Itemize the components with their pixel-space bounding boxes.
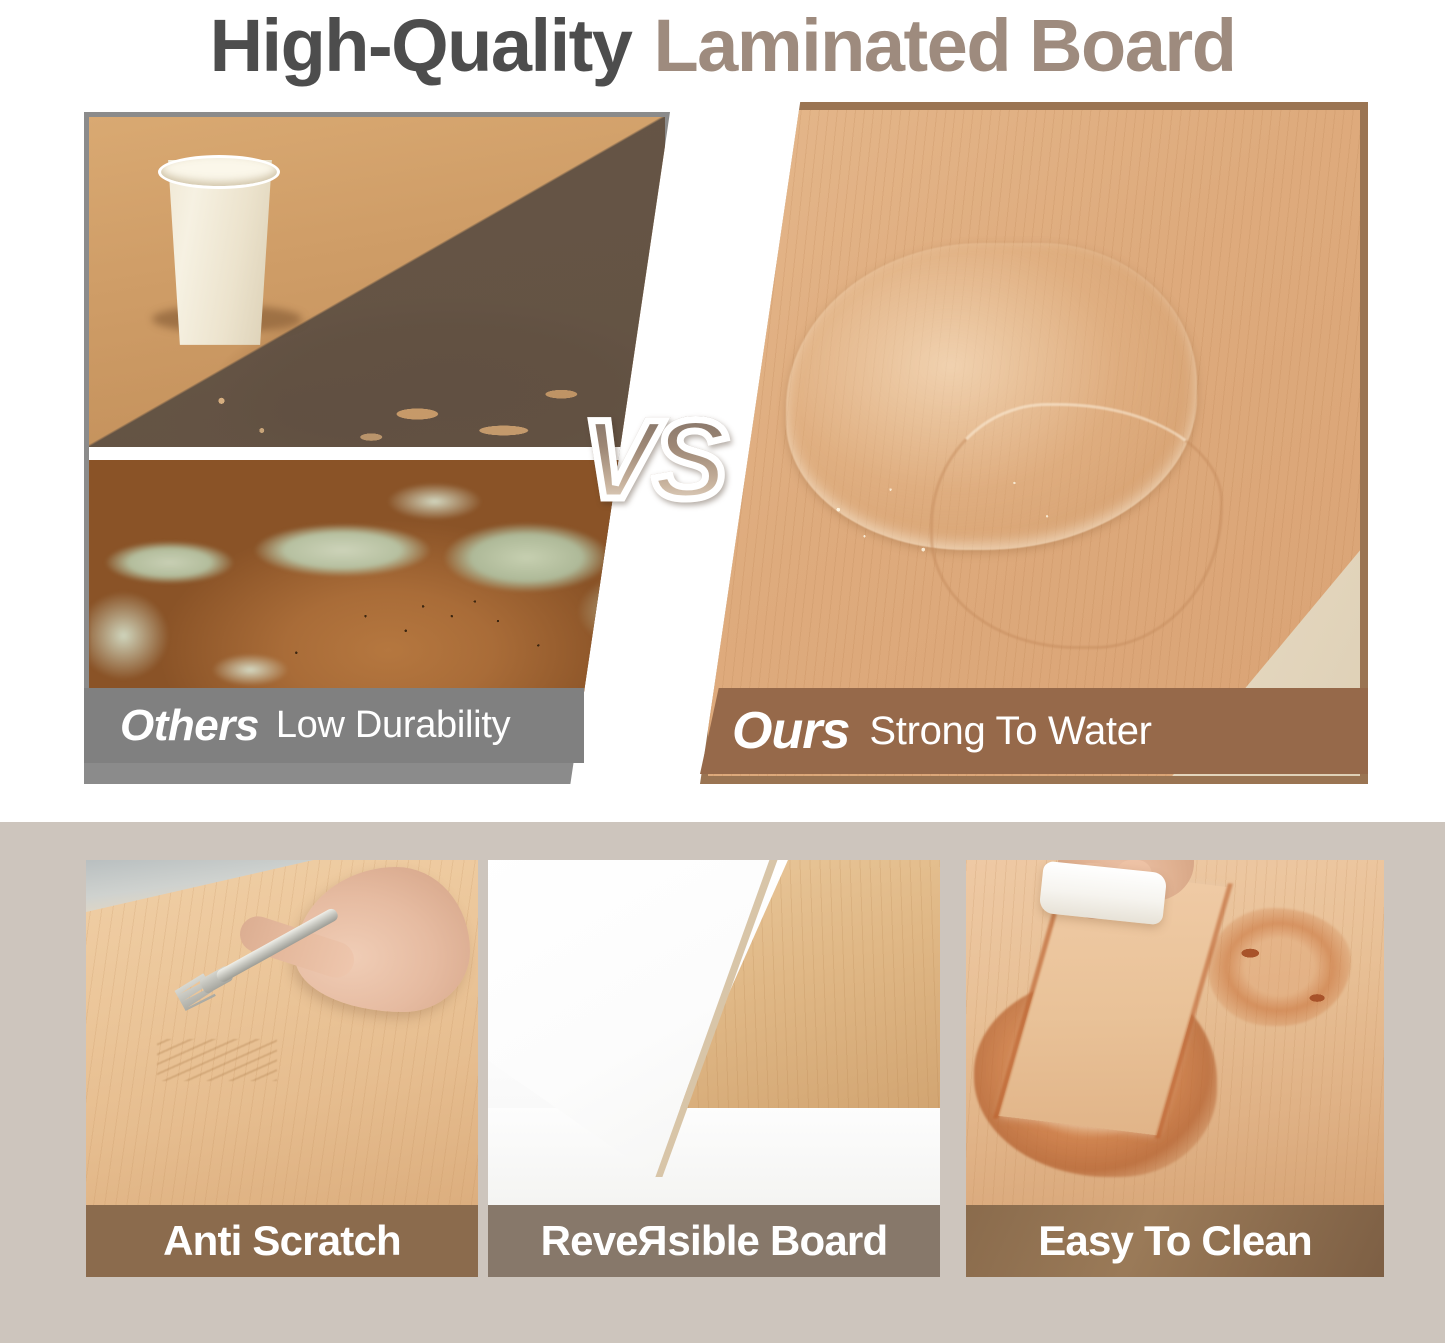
page-title: High-Quality Laminated Board <box>0 0 1445 92</box>
photo-divider-gap <box>89 447 665 460</box>
feature-label-text: Easy To Clean <box>1038 1217 1312 1265</box>
paper-cup-rim <box>158 155 280 189</box>
mold-specks <box>89 460 665 704</box>
ours-subtitle: Strong To Water <box>869 709 1151 754</box>
page-title-part-1: High-Quality <box>210 9 632 83</box>
lower-white-strip <box>488 1108 940 1205</box>
comparison-section: Others Low Durability Ours Strong To Wat… <box>0 92 1445 822</box>
others-mold-photo <box>89 460 665 704</box>
ours-caption-bar: Ours Strong To Water <box>700 688 1368 774</box>
feature-label-text-post: sible Board <box>667 1217 887 1265</box>
water-droplets <box>708 110 1360 776</box>
feature-label-reversible-board: ReveRsible Board <box>488 1205 940 1277</box>
page-title-part-2: Laminated Board <box>653 9 1235 83</box>
ours-title: Ours <box>732 701 849 761</box>
feature-card-easy-to-clean: Easy To Clean <box>966 860 1384 1300</box>
easy-to-clean-photo <box>966 860 1384 1205</box>
feature-label-text-pre: Reve <box>541 1217 638 1265</box>
others-caption-bar: Others Low Durability <box>84 688 584 763</box>
others-spill-photo <box>89 117 665 447</box>
others-title: Others <box>120 701 259 751</box>
others-subtitle: Low Durability <box>276 704 510 747</box>
anti-scratch-photo <box>86 860 478 1205</box>
mirrored-r-glyph: R <box>638 1217 668 1265</box>
feature-card-reversible-board: ReveRsible Board <box>488 860 940 1300</box>
others-photo-inner <box>89 117 665 784</box>
ours-photo-inner <box>708 110 1360 776</box>
scratch-marks <box>157 1039 277 1081</box>
feature-card-anti-scratch: Anti Scratch <box>86 860 478 1300</box>
ours-photo-group <box>700 102 1368 784</box>
feature-label-text: Anti Scratch <box>163 1217 401 1265</box>
features-section: Anti Scratch ReveRsible Board <box>0 822 1445 1343</box>
feature-label-easy-to-clean: Easy To Clean <box>966 1205 1384 1277</box>
vs-badge: VS <box>582 404 723 516</box>
reversible-board-photo <box>488 860 940 1205</box>
feature-label-anti-scratch: Anti Scratch <box>86 1205 478 1277</box>
